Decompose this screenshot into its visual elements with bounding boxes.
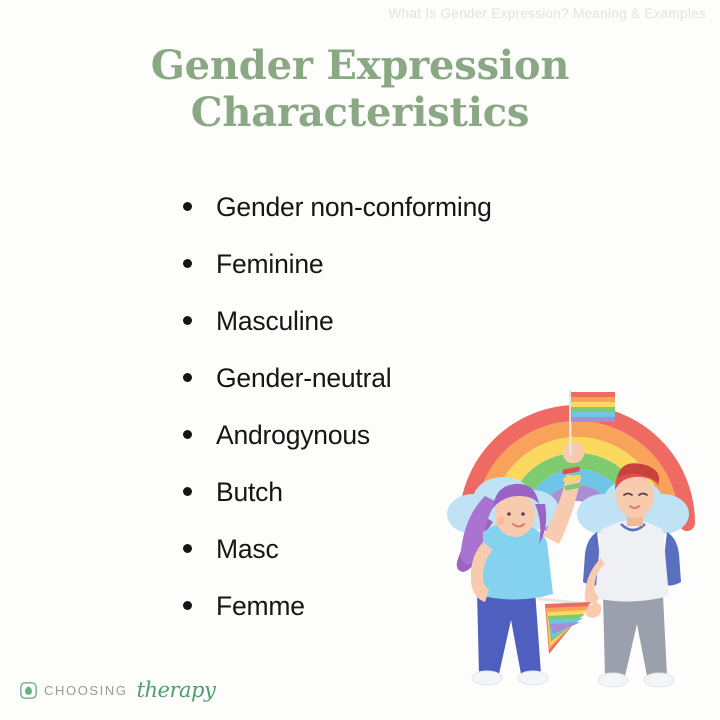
bullet-icon bbox=[183, 601, 192, 610]
page-title-line-1: Gender Expression bbox=[0, 42, 720, 89]
list-item-label: Masculine bbox=[216, 306, 334, 336]
bullet-icon bbox=[183, 430, 192, 439]
bullet-icon bbox=[183, 259, 192, 268]
bullet-icon bbox=[183, 487, 192, 496]
list-item-label: Femme bbox=[216, 591, 305, 621]
choosing-therapy-mark-icon bbox=[20, 682, 37, 699]
brand-logo[interactable]: Choosing therapy bbox=[20, 678, 215, 702]
infographic-canvas: What Is Gender Expression? Meaning & Exa… bbox=[0, 0, 720, 720]
page-title-line-2: Characteristics bbox=[0, 89, 720, 136]
rainbow-pennant-flag bbox=[537, 597, 593, 654]
brand-word-choosing: Choosing bbox=[44, 683, 128, 698]
bullet-icon bbox=[183, 316, 192, 325]
list-item-label: Gender non-conforming bbox=[216, 192, 492, 222]
list-item-label: Butch bbox=[216, 477, 283, 507]
list-item-label: Androgynous bbox=[216, 420, 370, 450]
brand-word-therapy: therapy bbox=[137, 678, 216, 702]
bullet-icon bbox=[183, 202, 192, 211]
bullet-icon bbox=[183, 544, 192, 553]
pride-illustration bbox=[425, 318, 720, 693]
bullet-icon bbox=[183, 373, 192, 382]
list-item-label: Feminine bbox=[216, 249, 323, 279]
list-item: Feminine bbox=[183, 250, 603, 307]
list-item-label: Gender-neutral bbox=[216, 363, 391, 393]
page-header-title: What Is Gender Expression? Meaning & Exa… bbox=[389, 6, 706, 21]
list-item: Gender non-conforming bbox=[183, 193, 603, 250]
list-item-label: Masc bbox=[216, 534, 279, 564]
page-title: Gender Expression Characteristics bbox=[0, 42, 720, 136]
